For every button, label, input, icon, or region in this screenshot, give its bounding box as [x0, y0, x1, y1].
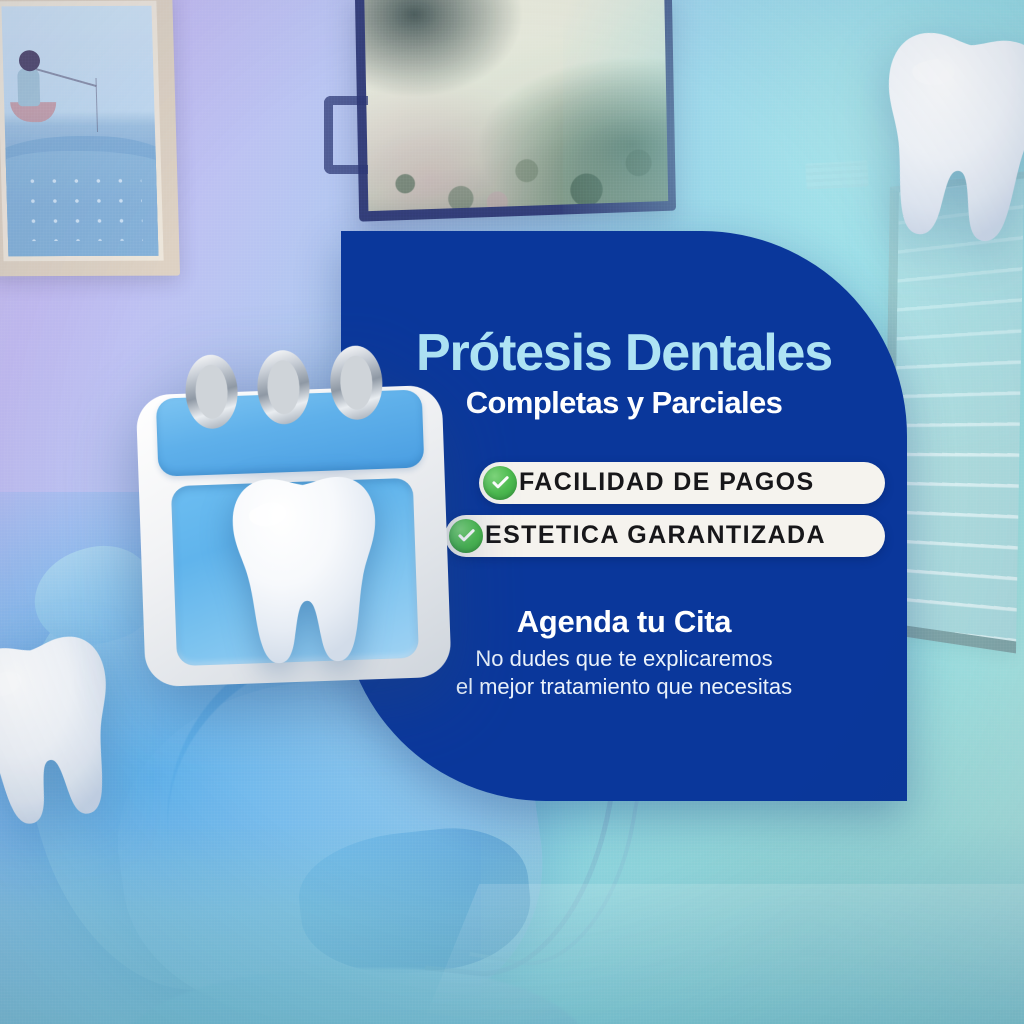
benefit-label: ESTETICA GARANTIZADA — [485, 523, 826, 548]
check-circle-icon — [449, 519, 483, 553]
benefit-label: FACILIDAD DE PAGOS — [519, 470, 815, 495]
page-title: Prótesis Dentales — [416, 327, 832, 379]
tooth-icon — [851, 23, 1024, 256]
calendar-tooth-icon — [134, 347, 451, 687]
call-to-action: Agenda tu Cita No dudes que te explicare… — [456, 605, 792, 702]
cta-line-1: No dudes que te explicaremos — [456, 645, 792, 674]
benefit-pill-estetica-garantizada: ESTETICA GARANTIZADA — [445, 515, 885, 557]
dental-promo-poster: Prótesis Dentales Completas y Parciales … — [0, 0, 1024, 1024]
benefit-pill-facilidad-de-pagos: FACILIDAD DE PAGOS — [479, 462, 885, 504]
cta-line-2: el mejor tratamiento que necesitas — [456, 673, 792, 702]
cta-title: Agenda tu Cita — [456, 605, 792, 639]
tooth-icon — [207, 473, 386, 675]
check-circle-icon — [483, 466, 517, 500]
page-subtitle: Completas y Parciales — [466, 387, 783, 420]
